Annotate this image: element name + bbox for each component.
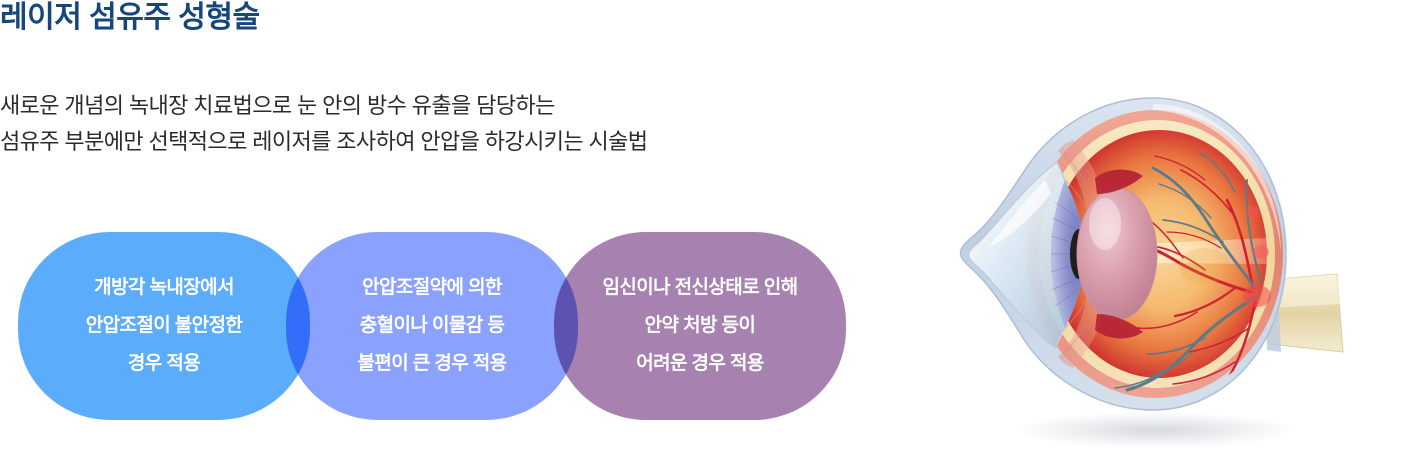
- macula: [1179, 248, 1231, 284]
- page-title: 레이저 섬유주 성형술: [0, 0, 260, 38]
- indication-bubble-open-angle-glaucoma[interactable]: [18, 232, 310, 420]
- indication-bubble-medication-side-effects[interactable]: [286, 232, 578, 420]
- indication-bubble-pregnancy-systemic[interactable]: [554, 232, 846, 420]
- eye-cross-section-illustration: [905, 52, 1395, 456]
- subtitle-line-1: 새로운 개념의 녹내장 치료법으로 눈 안의 방수 유출을 담당하는: [0, 88, 647, 124]
- indication-bubble-group: 개방각 녹내장에서 안압조절이 불안정한 경우 적용 안압조절약에 의한 충혈이…: [18, 232, 838, 420]
- eye-shadow: [1015, 412, 1295, 448]
- infographic-page: 레이저 섬유주 성형술 새로운 개념의 녹내장 치료법으로 눈 안의 방수 유출…: [0, 0, 1402, 464]
- subtitle-line-2: 섬유주 부분에만 선택적으로 레이저를 조사하여 안압을 하강시키는 시술법: [0, 124, 647, 160]
- lens-highlight: [1089, 198, 1121, 250]
- page-subtitle: 새로운 개념의 녹내장 치료법으로 눈 안의 방수 유출을 담당하는 섬유주 부…: [0, 88, 647, 160]
